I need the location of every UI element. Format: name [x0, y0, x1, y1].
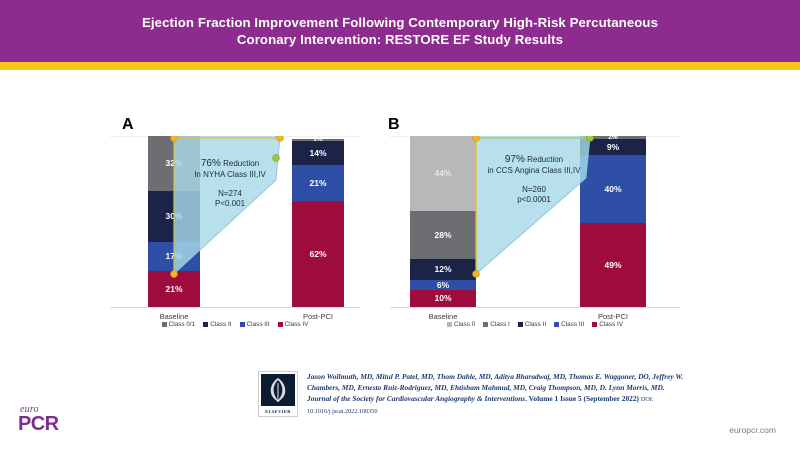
legend-label: Class 0/1 — [169, 321, 196, 328]
legend-swatch-icon — [447, 322, 452, 327]
legend-item-b-3[interactable]: Class III — [554, 321, 584, 328]
panel-b-letter: B — [388, 116, 400, 134]
panel-a-bar-baseline[interactable]: 21% 17% 30% 32% — [148, 136, 200, 307]
legend-swatch-icon — [278, 322, 283, 327]
elsevier-wordmark: ELSEVIER — [265, 409, 291, 414]
panel-b-axis-baseline — [390, 307, 680, 308]
legend-swatch-icon — [240, 322, 245, 327]
panel-b-bar-baseline[interactable]: 10% 6% 12% 28% 44% — [410, 136, 476, 307]
citation-volume: . Volume 1 Issue 5 (September 2022) — [525, 394, 639, 403]
citation-block: ELSEVIER Jason Wollmuth, MD, Mitul P. Pa… — [258, 371, 688, 417]
panel-b-sample-size: N=260 — [478, 185, 590, 195]
segment-b-baseline-class-i: 28% — [410, 211, 476, 259]
legend-label: Class IV — [599, 321, 623, 328]
panel-a-xlabel-baseline: Baseline — [138, 312, 210, 321]
legend-swatch-icon — [162, 322, 167, 327]
segment-a-post-class-iii: 21% — [292, 165, 344, 201]
legend-label: Class II — [525, 321, 546, 328]
legend-swatch-icon — [554, 322, 559, 327]
page-title-line2: Coronary Intervention: RESTORE EF Study … — [142, 31, 658, 48]
europcr-logo-pcr: PCR — [18, 415, 90, 434]
panel-a-plot-area: 21% 17% 30% 32% 62% 21% 14% 1% 76% Reduc… — [110, 136, 360, 308]
segment-a-baseline-class-ii: 30% — [148, 191, 200, 242]
legend-item-a-3[interactable]: Class IV — [278, 321, 309, 328]
elsevier-tree-icon — [261, 374, 295, 406]
legend-item-b-0[interactable]: Class 0 — [447, 321, 475, 328]
legend-item-a-2[interactable]: Class III — [240, 321, 270, 328]
legend-item-a-0[interactable]: Class 0/1 — [162, 321, 196, 328]
legend-swatch-icon — [203, 322, 208, 327]
legend-swatch-icon — [592, 322, 597, 327]
panel-a-axis-baseline — [110, 307, 360, 308]
legend-label: Class I — [490, 321, 510, 328]
legend-label: Class IV — [285, 321, 309, 328]
panel-a-bar-post-pci[interactable]: 62% 21% 14% 1% — [292, 139, 344, 307]
legend-item-b-2[interactable]: Class II — [518, 321, 546, 328]
page-title: Ejection Fraction Improvement Following … — [82, 14, 718, 48]
legend-swatch-icon — [483, 322, 488, 327]
legend-label: Class II — [210, 321, 231, 328]
header-accent-rule — [0, 62, 800, 70]
header-band: Ejection Fraction Improvement Following … — [0, 0, 800, 62]
segment-a-post-class-iv: 62% — [292, 201, 344, 307]
legend-label: Class 0 — [454, 321, 475, 328]
segment-a-baseline-class-iv: 21% — [148, 271, 200, 307]
elsevier-logo: ELSEVIER — [258, 371, 298, 417]
legend-item-a-1[interactable]: Class II — [203, 321, 231, 328]
panel-b-bar-post-pci[interactable]: 49% 40% 9% 2% — [580, 136, 646, 307]
segment-b-post-class-iii: 40% — [580, 155, 646, 223]
panel-b-reduction-percent: 97% — [505, 154, 525, 165]
panel-b-callout-line2: in CCS Angina Class III,IV — [478, 165, 590, 176]
segment-b-baseline-class-0: 44% — [410, 136, 476, 211]
legend-label: Class III — [561, 321, 584, 328]
legend-swatch-icon — [518, 322, 523, 327]
page-title-line1: Ejection Fraction Improvement Following … — [142, 15, 658, 30]
segment-a-post-class-ii: 14% — [292, 141, 344, 165]
segment-a-baseline-class-iii: 17% — [148, 242, 200, 271]
panel-b-plot-area: 10% 6% 12% 28% 44% 49% 40% 9% 2% 97% Red… — [390, 136, 680, 308]
panel-a-reduction-word: Reduction — [223, 159, 259, 168]
segment-b-baseline-class-iv: 10% — [410, 290, 476, 307]
segment-b-baseline-class-ii: 12% — [410, 259, 476, 280]
panel-a-legend: Class 0/1Class IIClass IIIClass IV — [110, 321, 360, 328]
footer-url[interactable]: europcr.com — [729, 425, 776, 435]
segment-a-baseline-class-0-1: 32% — [148, 136, 200, 191]
panel-b-reduction-word: Reduction — [527, 155, 563, 164]
segment-b-post-class-iv: 49% — [580, 223, 646, 307]
citation-authors: Jason Wollmuth, MD, Mitul P. Patel, MD, … — [307, 372, 683, 392]
panel-b-legend: Class 0Class IClass IIClass IIIClass IV — [390, 321, 680, 328]
panel-b-p-value: p<0.0001 — [478, 195, 590, 205]
panel-a-reduction-percent: 76% — [201, 158, 221, 169]
segment-b-post-class-ii: 9% — [580, 139, 646, 154]
panel-b-xlabel-baseline: Baseline — [407, 312, 479, 321]
legend-label: Class III — [247, 321, 270, 328]
panel-b-xlabel-post: Post-PCI — [577, 312, 649, 321]
panel-a-xlabel-post: Post-PCI — [282, 312, 354, 321]
panel-a-letter: A — [122, 116, 134, 134]
panel-b-callout-text: 97% Reduction in CCS Angina Class III,IV… — [478, 154, 590, 205]
citation-text: Jason Wollmuth, MD, Mitul P. Patel, MD, … — [307, 371, 688, 417]
panel-b-callout-headline: 97% Reduction — [478, 154, 590, 165]
legend-item-b-1[interactable]: Class I — [483, 321, 510, 328]
europcr-logo[interactable]: euro PCR — [18, 404, 90, 434]
segment-b-baseline-class-iii: 6% — [410, 280, 476, 290]
legend-item-b-4[interactable]: Class IV — [592, 321, 623, 328]
citation-journal: Journal of the Society for Cardiovascula… — [307, 394, 525, 403]
